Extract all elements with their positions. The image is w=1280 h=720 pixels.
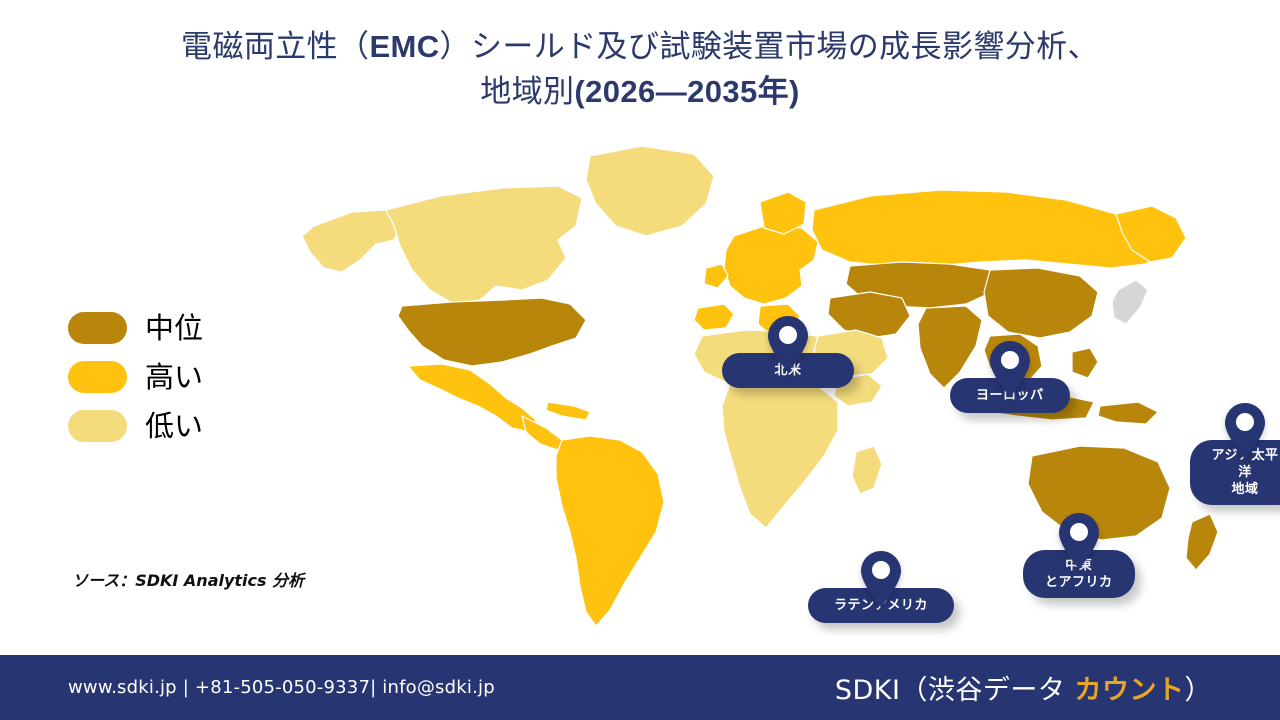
map-region-madagascar (852, 446, 882, 494)
world-map: 北米 ヨーロッパ アジア太平洋 地域 中東 とアフリカ ラテンアメリカ (290, 140, 1250, 640)
legend-swatch-high (68, 361, 127, 393)
map-region-united-states (398, 298, 586, 366)
footer-logo: SDKI（渋谷データ カウント） (835, 668, 1212, 707)
legend-swatch-low (68, 410, 127, 442)
title-prefix: 電磁両立性（ (181, 29, 369, 64)
legend-item-medium: 中位 (68, 312, 203, 344)
legend-label-high: 高い (145, 363, 203, 392)
footer-logo-brand: SDKI（渋谷データ (835, 675, 1075, 706)
location-pin-icon (766, 315, 810, 373)
map-region-alaska (302, 210, 402, 272)
map-region-uk-ireland (704, 264, 728, 288)
footer-logo-paren: ） (1185, 675, 1213, 706)
map-region-caribbean (546, 402, 590, 420)
title-years-token: (2026—2035年) (574, 74, 799, 109)
title-region-token: 地域別 (480, 74, 574, 109)
title-line-2: 地域別(2026—2035年) (60, 69, 1220, 114)
legend-item-high: 高い (68, 361, 203, 393)
map-region-mexico (408, 364, 536, 432)
footer-logo-accent: カウント (1075, 675, 1185, 706)
map-region-china (984, 268, 1098, 338)
map-region-greenland (586, 146, 714, 236)
title-line-1: 電磁両立性（EMC）シールド及び試験装置市場の成長影響分析、 (60, 24, 1220, 69)
legend-swatch-medium (68, 312, 127, 344)
slide-root: 電磁両立性（EMC）シールド及び試験装置市場の成長影響分析、 地域別(2026—… (0, 0, 1280, 720)
map-pin-europe[interactable]: ヨーロッパ (950, 340, 1070, 413)
map-region-europe (724, 224, 818, 304)
map-pin-north-america[interactable]: 北米 (722, 315, 854, 388)
location-pin-icon (1223, 402, 1267, 460)
title-emc-token: EMC (369, 29, 439, 64)
location-pin-icon (1057, 512, 1101, 570)
map-region-philippines (1072, 348, 1098, 378)
legend: 中位 高い 低い (68, 312, 203, 442)
map-region-new-guinea (1098, 402, 1158, 424)
title-suffix: ）シールド及び試験装置市場の成長影響分析、 (440, 29, 1099, 64)
map-pin-latin-america[interactable]: ラテンアメリカ (808, 550, 954, 623)
location-pin-icon (859, 550, 903, 608)
map-region-south-america (556, 436, 664, 626)
location-pin-icon (988, 340, 1032, 398)
legend-label-low: 低い (145, 412, 203, 441)
legend-item-low: 低い (68, 410, 203, 442)
map-region-central-america (522, 416, 562, 450)
map-pin-middle-east-africa[interactable]: 中東 とアフリカ (1023, 512, 1135, 598)
footer-contact-info[interactable]: www.sdki.jp | +81-505-050-9337| info@sdk… (68, 677, 495, 698)
map-region-canada (386, 186, 582, 304)
map-pin-asia-pacific[interactable]: アジア太平洋 地域 (1190, 402, 1280, 505)
map-region-new-zealand (1186, 514, 1218, 570)
map-region-japan (1112, 280, 1148, 324)
page-title: 電磁両立性（EMC）シールド及び試験装置市場の成長影響分析、 地域別(2026—… (0, 24, 1280, 114)
map-region-russia (812, 190, 1162, 268)
map-region-sub-saharan-africa (722, 382, 838, 528)
footer-bar: www.sdki.jp | +81-505-050-9337| info@sdk… (0, 655, 1280, 720)
source-note: ソース：SDKI Analytics 分析 (72, 567, 304, 591)
legend-label-medium: 中位 (145, 314, 203, 343)
